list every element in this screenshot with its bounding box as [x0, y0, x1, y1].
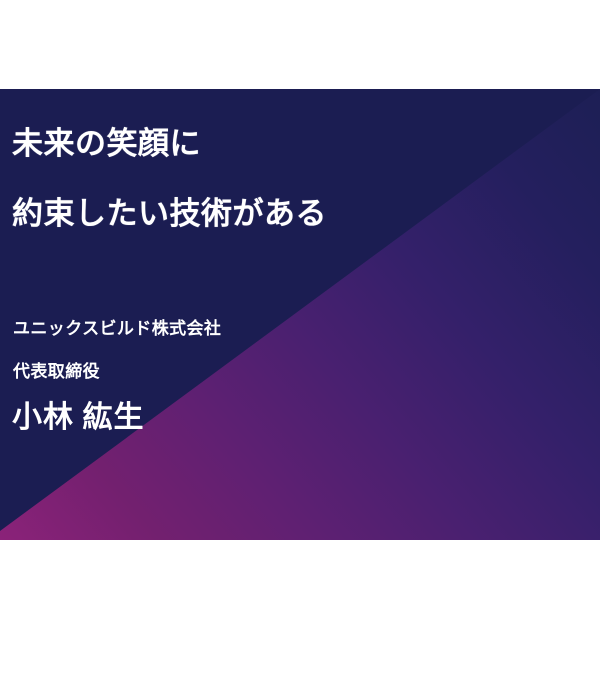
company-name: ユニックスビルド株式会社	[13, 314, 221, 339]
slide-text-layer: 未来の笑顔に 約束したい技術がある ユニックスビルド株式会社 代表取締役 小林 …	[0, 89, 600, 540]
job-title: 代表取締役	[13, 357, 100, 382]
banner-panel: 未来の笑顔に 約束したい技術がある ユニックスビルド株式会社 代表取締役 小林 …	[0, 89, 600, 540]
headline-line-1: 未来の笑顔に	[12, 118, 201, 163]
person-name: 小林 紘生	[12, 392, 145, 436]
headline-line-2: 約束したい技術がある	[12, 188, 327, 233]
slide-root: 未来の笑顔に 約束したい技術がある ユニックスビルド株式会社 代表取締役 小林 …	[0, 0, 600, 693]
